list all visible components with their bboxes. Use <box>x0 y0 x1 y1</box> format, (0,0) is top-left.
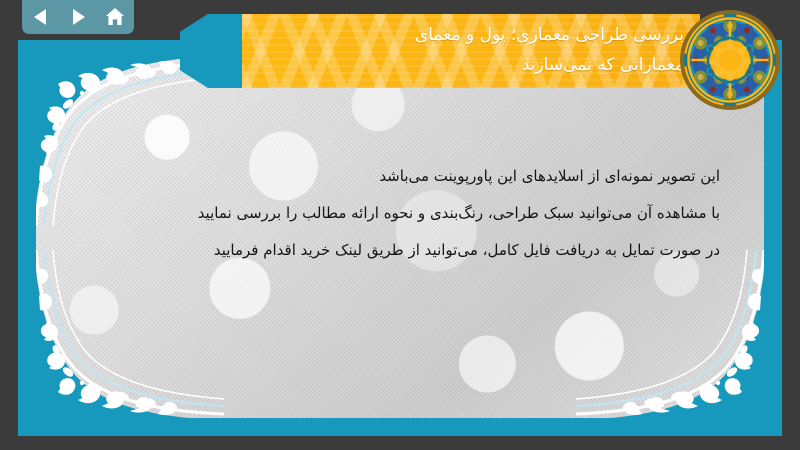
slide-content-panel: این تصویر نمونه‌ای از اسلایدهای این پاور… <box>36 58 764 418</box>
home-icon <box>104 6 126 28</box>
presentation-viewer: این تصویر نمونه‌ای از اسلایدهای این پاور… <box>0 0 800 450</box>
slide-body-text: این تصویر نمونه‌ای از اسلایدهای این پاور… <box>96 158 720 269</box>
persian-medallion-ornament <box>678 8 782 112</box>
slide-canvas[interactable]: این تصویر نمونه‌ای از اسلایدهای این پاور… <box>18 40 782 436</box>
body-line-3: در صورت تمایل به دریافت فایل کامل، می‌تو… <box>96 232 720 269</box>
arabesque-corner-ornament-bottom-right <box>576 250 764 418</box>
body-line-1: این تصویر نمونه‌ای از اسلایدهای این پاور… <box>96 158 720 195</box>
arabesque-corner-ornament-bottom-left <box>36 250 224 418</box>
page-title: بررسی طراحی معماری؛ پول و معمای معمارانی… <box>264 20 684 80</box>
navigation-toolbar <box>22 0 134 34</box>
triangle-right-icon <box>67 6 89 28</box>
next-slide-button[interactable] <box>65 4 91 30</box>
body-line-2: با مشاهده آن می‌توانید سبک طراحی، رنگ‌بن… <box>96 195 720 232</box>
triangle-left-icon <box>30 6 52 28</box>
previous-slide-button[interactable] <box>28 4 54 30</box>
home-button[interactable] <box>102 4 128 30</box>
slide-title-banner: بررسی طراحی معماری؛ پول و معمای معمارانی… <box>180 14 700 88</box>
